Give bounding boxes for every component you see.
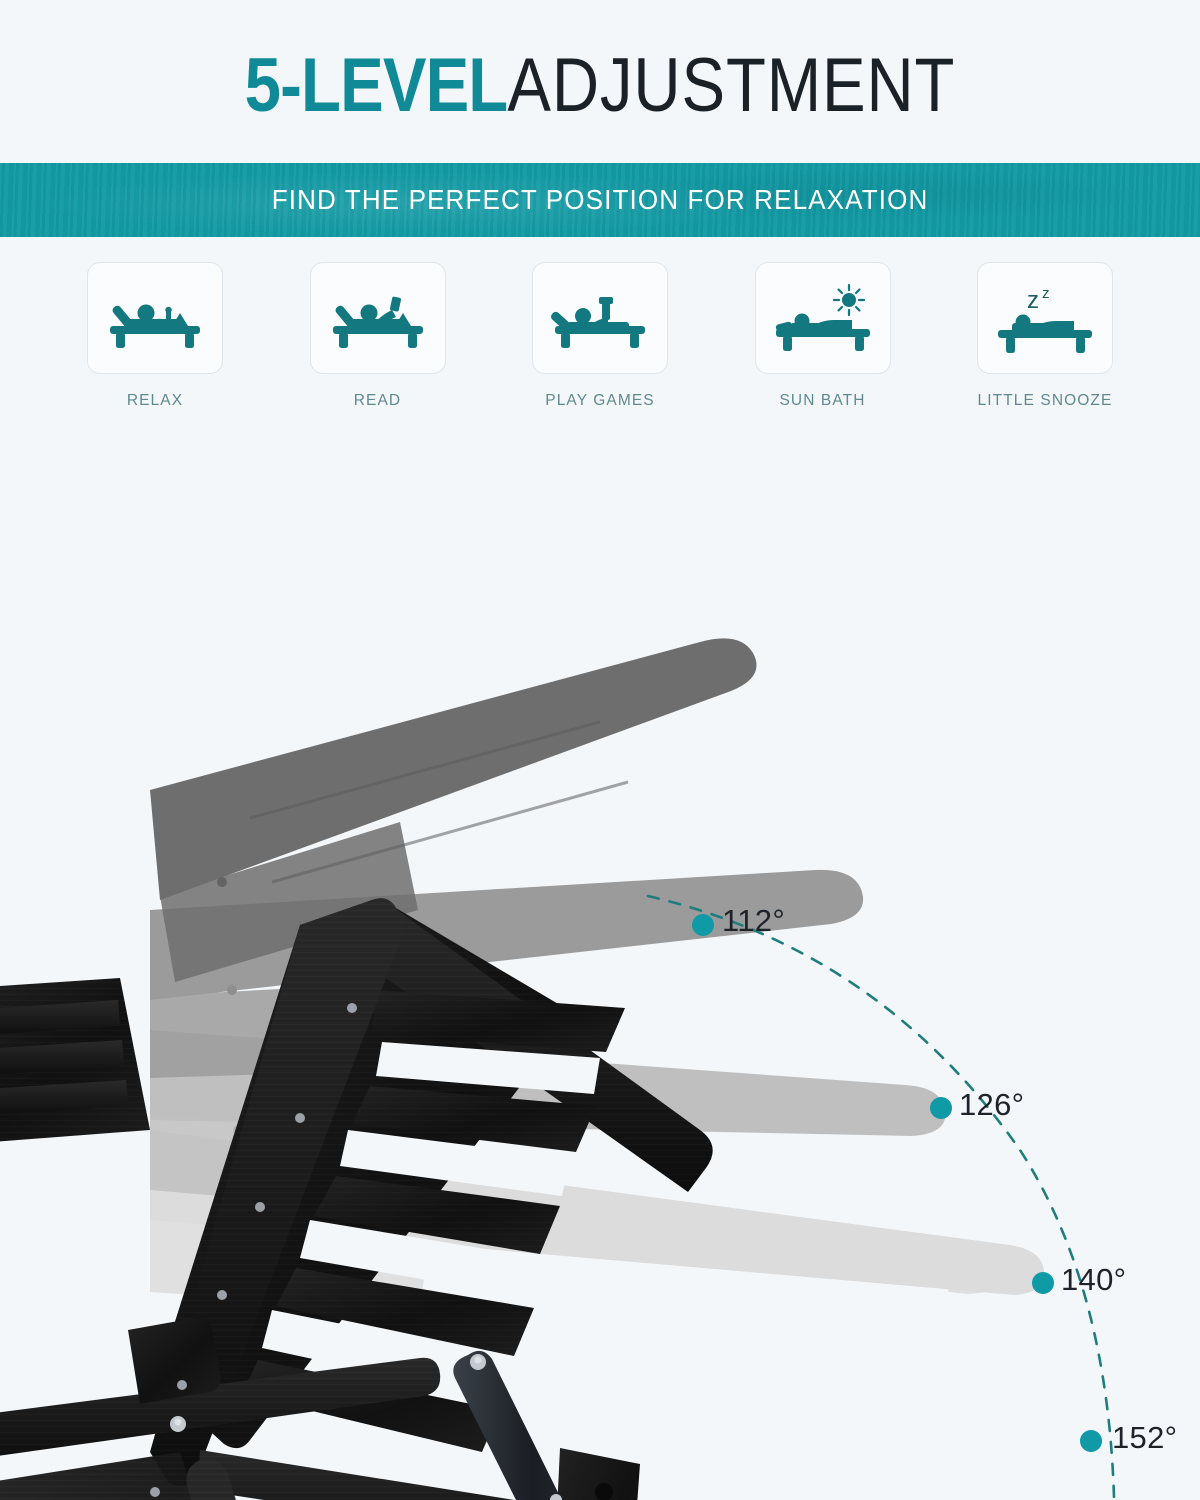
feature-item-little-snooze[interactable]: z z LITTLE SNOOZE xyxy=(950,262,1140,412)
feature-item-relax[interactable]: RELAX xyxy=(60,262,250,412)
angle-label-152: 152° xyxy=(1112,1420,1177,1456)
feature-icon-box xyxy=(87,262,223,374)
feature-label: PLAY GAMES xyxy=(545,392,655,410)
subtitle-banner: FIND THE PERFECT POSITION FOR RELAXATION xyxy=(0,163,1200,237)
angle-label-112: 112° xyxy=(722,903,785,939)
angle-arc-dashed xyxy=(648,896,1115,1500)
svg-text:z: z xyxy=(1027,287,1039,314)
angle-dot-126 xyxy=(930,1097,952,1119)
feature-item-read[interactable]: READ xyxy=(283,262,473,412)
angle-dot-140 xyxy=(1032,1272,1054,1294)
person-gaming-chaise-icon xyxy=(547,286,653,350)
feature-icon-box xyxy=(532,262,668,374)
angle-dots xyxy=(692,914,1123,1500)
feature-label: RELAX xyxy=(127,392,183,410)
person-reading-chaise-icon xyxy=(325,286,431,350)
feature-label: READ xyxy=(354,392,401,410)
feature-icon-row: RELAX READ xyxy=(60,262,1140,412)
zzz-icon: z z xyxy=(1027,285,1050,314)
sun-icon xyxy=(834,285,864,315)
page-title: 5-LEVELADJUSTMENT xyxy=(84,48,1116,124)
reclining-chaise-lounge-diagram xyxy=(0,430,1200,1500)
feature-item-play-games[interactable]: PLAY GAMES xyxy=(505,262,695,412)
feature-icon-box xyxy=(755,262,891,374)
angle-label-140: 140° xyxy=(1061,1262,1126,1298)
person-sleeping-chaise-icon: z z xyxy=(992,282,1098,354)
person-sunbathing-chaise-icon xyxy=(770,283,876,353)
feature-label: SUN BATH xyxy=(779,392,865,410)
svg-text:z: z xyxy=(1042,285,1050,302)
page-title-accent: 5-LEVEL xyxy=(245,43,508,128)
page-title-rest: ADJUSTMENT xyxy=(507,43,955,128)
feature-item-sun-bath[interactable]: SUN BATH xyxy=(728,262,918,412)
feature-icon-box xyxy=(310,262,446,374)
angle-dot-112 xyxy=(692,914,714,936)
subtitle-text: FIND THE PERFECT POSITION FOR RELAXATION xyxy=(272,184,929,216)
feature-icon-box: z z xyxy=(977,262,1113,374)
feature-label: LITTLE SNOOZE xyxy=(978,392,1113,410)
chair-illustration-stage: 112° 126° 140° 152° 180° xyxy=(0,430,1200,1500)
angle-label-126: 126° xyxy=(959,1087,1024,1123)
person-reclining-chaise-icon xyxy=(102,286,208,350)
angle-dot-152 xyxy=(1080,1430,1102,1452)
